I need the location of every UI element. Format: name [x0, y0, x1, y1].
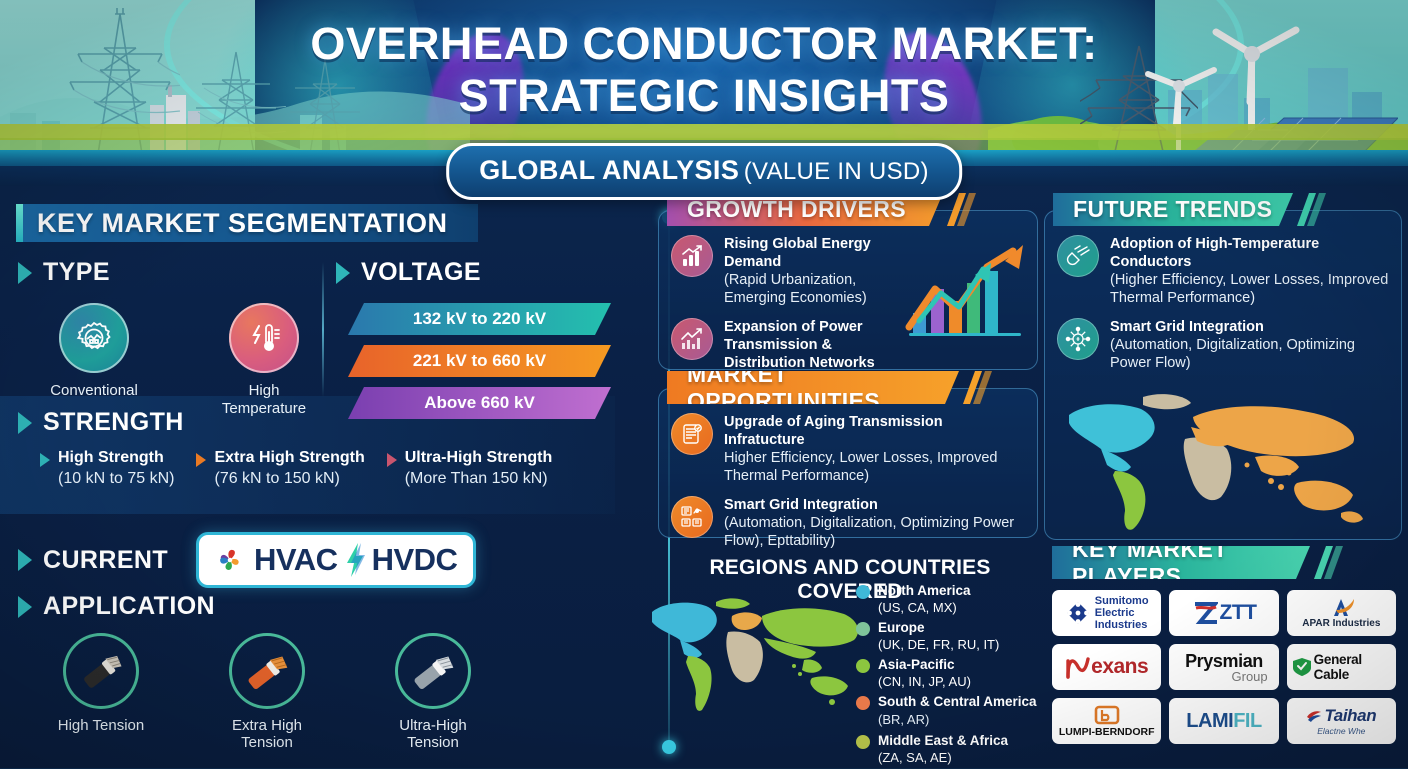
hvdc-label: HVDC — [372, 542, 458, 578]
growth-driver-detail: (Rapid Urbanization, Emerging Economies) — [724, 271, 897, 307]
voltage-bands: 132 kV to 220 kV 221 kV to 660 kV Above … — [336, 303, 611, 419]
title-line-2: STRATEGIC INSIGHTS — [0, 70, 1408, 122]
badge-light-text: (VALUE IN USD) — [744, 158, 929, 185]
regions-legend: North America (US, CA, MX) Europe (UK, D… — [856, 582, 1046, 769]
player-logo-general-cable[interactable]: General Cable — [1287, 644, 1396, 690]
player-logo-lumpi-berndorf[interactable]: LUMPI-BERNDORF — [1052, 698, 1161, 744]
triangle-bullet-icon — [40, 453, 50, 467]
type-title: TYPE — [43, 258, 110, 287]
growth-drivers-list: Rising Global Energy Demand (Rapid Urban… — [659, 211, 909, 372]
legend-dot — [856, 585, 870, 599]
player-name-line2: Group — [1232, 670, 1268, 683]
region-legend-item[interactable]: Middle East & Africa (ZA, SA, AE) — [856, 732, 1046, 766]
player-logo-prysmian[interactable]: Prysmian Group — [1169, 644, 1278, 690]
type-item-label-a: High — [216, 382, 312, 400]
strength-item-name: Extra High Strength — [214, 447, 364, 468]
growth-drivers-card: GROWTH DRIVERS — [658, 210, 1038, 370]
player-name-line2: Elactne Whe — [1317, 726, 1365, 736]
type-item-label: Conventional — [46, 382, 142, 400]
region-legend-item[interactable]: South & Central America (BR, AR) — [856, 693, 1046, 729]
voltage-band[interactable]: 132 kV to 220 kV — [348, 303, 611, 335]
player-logo-nexans[interactable]: exans — [1052, 644, 1161, 690]
voltage-section: VOLTAGE 132 kV to 220 kV 221 kV to 660 k… — [336, 258, 611, 429]
lightning-bolt-icon — [344, 543, 366, 577]
application-section: APPLICATION — [18, 592, 598, 751]
type-item-high-temperature[interactable]: High Temperature — [216, 303, 312, 418]
type-title-row: TYPE — [18, 258, 318, 287]
region-countries: (ZA, SA, AE) — [878, 749, 1008, 766]
gear-icon — [59, 303, 129, 373]
triangle-bullet-icon — [336, 262, 350, 284]
player-name-line3: Industries — [1095, 619, 1149, 631]
market-opportunities-heading: MARKET OPPORTUNITIES — [667, 371, 959, 404]
strength-title: STRENGTH — [43, 408, 184, 437]
future-trend-item[interactable]: Adoption of High-Temperature Conductors … — [1057, 235, 1389, 307]
player-name-line1: Taihan — [1324, 706, 1376, 726]
future-trend-title: Adoption of High-Temperature Conductors — [1110, 235, 1389, 271]
strength-section: STRENGTH High Strength (10 kN to 75 kN) … — [18, 408, 598, 489]
heading-accent-bar — [16, 204, 23, 242]
player-name-line2: Electric — [1095, 607, 1149, 619]
application-item-label: Extra High Tension — [210, 717, 324, 751]
current-title: CURRENT — [43, 546, 168, 575]
strength-title-row: STRENGTH — [18, 408, 598, 437]
future-trend-detail: (Automation, Digitalization, Optimizing … — [1110, 336, 1389, 372]
application-item-label: High Tension — [44, 717, 158, 734]
key-players-heading: KEY MARKET PLAYERS — [1052, 546, 1310, 579]
strength-item[interactable]: Extra High Strength (76 kN to 150 kN) — [196, 447, 364, 489]
conductor-icon — [1057, 235, 1099, 277]
strength-item[interactable]: Ultra-High Strength (More Than 150 kN) — [387, 447, 553, 489]
application-item-label: Ultra-High Tension — [376, 717, 490, 751]
player-name: exans — [1091, 655, 1148, 679]
future-trends-list: Adoption of High-Temperature Conductors … — [1045, 211, 1401, 372]
region-name: North America — [878, 582, 971, 599]
application-items: High Tension — [44, 633, 598, 751]
growth-driver-item[interactable]: Rising Global Energy Demand (Rapid Urban… — [671, 235, 897, 307]
general-cable-mark-icon — [1292, 657, 1312, 677]
cable-steel-icon — [395, 633, 471, 709]
infographic-root: OVERHEAD CONDUCTOR MARKET: STRATEGIC INS… — [0, 0, 1408, 768]
region-name: Middle East & Africa — [878, 732, 1008, 749]
growth-driver-title: Rising Global Energy Demand — [724, 235, 897, 271]
nexans-n-icon — [1065, 653, 1091, 681]
growth-driver-title: Expansion of Power Transmission & Distri… — [724, 318, 897, 372]
right-column: FUTURE TRENDS Adoption of High-Tem — [1038, 196, 1408, 768]
strength-item[interactable]: High Strength (10 kN to 75 kN) — [40, 447, 174, 489]
player-logo-ztt[interactable]: ZTT — [1169, 590, 1278, 636]
application-item-ultra-high-tension[interactable]: Ultra-High Tension — [376, 633, 490, 751]
player-name: General Cable — [1314, 652, 1391, 682]
application-item-high-tension[interactable]: High Tension — [44, 633, 158, 751]
strength-item-name: High Strength — [58, 447, 174, 468]
segmentation-heading: KEY MARKET SEGMENTATION — [16, 204, 478, 242]
lumpi-berndorf-mark-icon — [1092, 705, 1122, 725]
market-opportunity-title: Smart Grid Integration — [724, 496, 1025, 514]
apar-mark-icon — [1324, 597, 1358, 617]
legend-dot — [856, 659, 870, 673]
page-title: OVERHEAD CONDUCTOR MARKET: STRATEGIC INS… — [0, 18, 1408, 122]
player-name-line1: Prysmian — [1185, 652, 1263, 670]
badge-strong-text: GLOBAL ANALYSIS — [479, 155, 739, 185]
cable-copper-icon — [229, 633, 305, 709]
player-name: APAR Industries — [1302, 618, 1380, 629]
taihan-mark-icon — [1306, 708, 1322, 724]
future-trend-item[interactable]: Smart Grid Integration (Automation, Digi… — [1057, 318, 1389, 372]
application-item-extra-high-tension[interactable]: Extra High Tension — [210, 633, 324, 751]
legend-dot — [856, 696, 870, 710]
strength-item-range: (10 kN to 75 kN) — [58, 468, 174, 489]
future-trends-card: FUTURE TRENDS Adoption of High-Tem — [1044, 210, 1402, 540]
market-opportunity-item[interactable]: Smart Grid Integration (Automation, Digi… — [671, 496, 1025, 550]
market-opportunity-title: Upgrade of Aging Transmission Infratuctu… — [724, 413, 1025, 449]
network-node-icon — [1057, 318, 1099, 360]
region-legend-item[interactable]: Asia-Pacific (CN, IN, JP, AU) — [856, 656, 1046, 690]
future-trends-heading: FUTURE TRENDS — [1053, 193, 1293, 226]
current-section: CURRENT HVAC — [18, 532, 598, 588]
sumitomo-mark-icon — [1065, 600, 1091, 626]
player-logo-lamifil[interactable]: LAMI FIL — [1169, 698, 1278, 744]
key-market-segmentation-panel: KEY MARKET SEGMENTATION TYPE — [0, 196, 615, 768]
application-title-row: APPLICATION — [18, 592, 598, 621]
voltage-title-row: VOLTAGE — [336, 258, 611, 287]
trend-chart-icon — [671, 318, 713, 360]
type-items: Conventional — [46, 303, 318, 418]
player-name-line1: Sumitomo — [1095, 595, 1149, 607]
strength-item-range: (More Than 150 kN) — [405, 468, 553, 489]
region-name: South & Central America — [878, 694, 1037, 709]
strength-item-range: (76 kN to 150 kN) — [214, 468, 364, 489]
future-trend-title: Smart Grid Integration — [1110, 318, 1389, 336]
player-name-line2: FIL — [1233, 710, 1262, 733]
market-opportunities-list: Upgrade of Aging Transmission Infratuctu… — [659, 389, 1037, 550]
triangle-bullet-icon — [387, 453, 397, 467]
triangle-bullet-icon — [18, 412, 32, 434]
strength-item-name: Ultra-High Strength — [405, 447, 553, 468]
player-name: LUMPI-BERNDORF — [1059, 726, 1155, 738]
type-item-conventional[interactable]: Conventional — [46, 303, 142, 418]
triangle-bullet-icon — [196, 453, 206, 467]
future-trend-detail: (Higher Efficiency, Lower Losses, Improv… — [1110, 271, 1389, 307]
player-logo-apar[interactable]: APAR Industries — [1287, 590, 1396, 636]
pinwheel-logo-icon — [215, 545, 245, 575]
hvac-label: HVAC — [254, 542, 338, 578]
market-opportunity-item[interactable]: Upgrade of Aging Transmission Infratuctu… — [671, 413, 1025, 485]
voltage-band[interactable]: 221 kV to 660 kV — [348, 345, 611, 377]
title-line-1: OVERHEAD CONDUCTOR MARKET: — [0, 18, 1408, 70]
type-voltage-divider — [322, 262, 324, 397]
player-logo-taihan[interactable]: Taihan Elactne Whe — [1287, 698, 1396, 744]
type-section: TYPE — [18, 258, 318, 418]
ztt-mark-icon — [1192, 601, 1218, 625]
triangle-bullet-icon — [18, 549, 32, 571]
region-name: Asia-Pacific — [878, 656, 971, 673]
world-map-future-trends — [1057, 387, 1389, 532]
legend-dot — [856, 735, 870, 749]
market-opportunity-detail: (Automation, Digitalization, Optimizing … — [724, 514, 1025, 550]
triangle-bullet-icon — [18, 596, 32, 618]
legend-dot — [856, 622, 870, 636]
player-name: ZTT — [1220, 601, 1257, 625]
growth-driver-item[interactable]: Expansion of Power Transmission & Distri… — [671, 318, 897, 372]
bar-chart-up-icon — [671, 235, 713, 277]
tower-upgrade-icon — [671, 413, 713, 455]
hvac-hvdc-badge[interactable]: HVAC HVDC — [196, 532, 476, 588]
smart-grid-icon — [671, 496, 713, 538]
region-legend-item[interactable]: Europe (UK, DE, FR, RU, IT) — [856, 619, 1046, 653]
key-market-players-card: KEY MARKET PLAYERS Sumitomo Elect — [1044, 564, 1402, 760]
world-map-regions — [644, 586, 874, 716]
segmentation-heading-text: KEY MARKET SEGMENTATION — [37, 208, 448, 239]
application-title: APPLICATION — [43, 592, 215, 621]
region-name: Europe — [878, 619, 999, 636]
cable-black-icon — [63, 633, 139, 709]
global-analysis-badge: GLOBAL ANALYSIS (VALUE IN USD) — [446, 143, 962, 200]
center-column: GROWTH DRIVERS — [648, 196, 1038, 768]
region-countries: (UK, DE, FR, RU, IT) — [878, 636, 999, 653]
thermometer-icon — [229, 303, 299, 373]
region-countries: (US, CA, MX) — [878, 599, 971, 616]
player-logo-sumitomo[interactable]: Sumitomo Electric Industries — [1052, 590, 1161, 636]
growth-chart-illustration — [901, 241, 1031, 361]
region-legend-item[interactable]: North America (US, CA, MX) — [856, 582, 1046, 616]
triangle-bullet-icon — [18, 262, 32, 284]
player-name-line1: LAMI — [1186, 710, 1233, 733]
voltage-title: VOLTAGE — [361, 258, 481, 287]
current-title-row: CURRENT — [18, 546, 168, 575]
region-countries: (CN, IN, JP, AU) — [878, 673, 971, 690]
region-countries: (BR, AR) — [878, 712, 929, 727]
player-logo-grid: Sumitomo Electric Industries ZTT — [1052, 590, 1396, 744]
market-opportunity-detail: Higher Efficiency, Lower Losses, Improve… — [724, 449, 1025, 485]
market-opportunities-card: MARKET OPPORTUNITIES — [658, 388, 1038, 538]
strength-items: High Strength (10 kN to 75 kN) Extra Hig… — [40, 447, 598, 489]
